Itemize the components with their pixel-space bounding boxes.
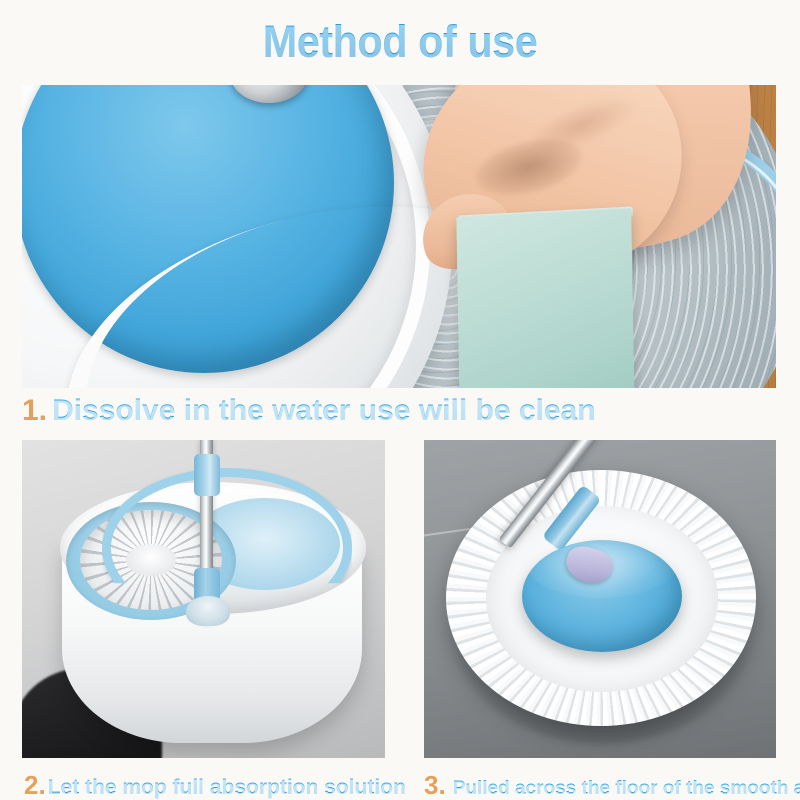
step-2-number: 2. (24, 770, 46, 800)
step-3-number: 3. (424, 770, 446, 800)
step-2-caption: 2.Let the mop full absorption solution (24, 770, 406, 800)
mop-pole-foot (186, 596, 230, 626)
step-3-text: Pulled across the floor of the smooth as… (453, 778, 800, 799)
step-3-photo (424, 440, 776, 758)
step-2-text: Let the mop full absorption solution (48, 776, 406, 799)
dissolvable-cleaning-sheet (456, 208, 634, 388)
step-3-caption: 3.Pulled across the floor of the smooth … (424, 770, 800, 800)
step-2-photo (22, 440, 385, 758)
product-instruction-page: Method of use 1.Dissolve in the water us… (0, 0, 800, 800)
step-1-caption: 1.Dissolve in the water use will be clea… (22, 394, 596, 428)
step-1-photo (22, 85, 776, 388)
mop-pole-collar (194, 454, 220, 496)
page-title: Method of use (32, 16, 768, 68)
step-1-text: Dissolve in the water use will be clean (52, 394, 596, 427)
step-1-number: 1. (22, 394, 47, 427)
